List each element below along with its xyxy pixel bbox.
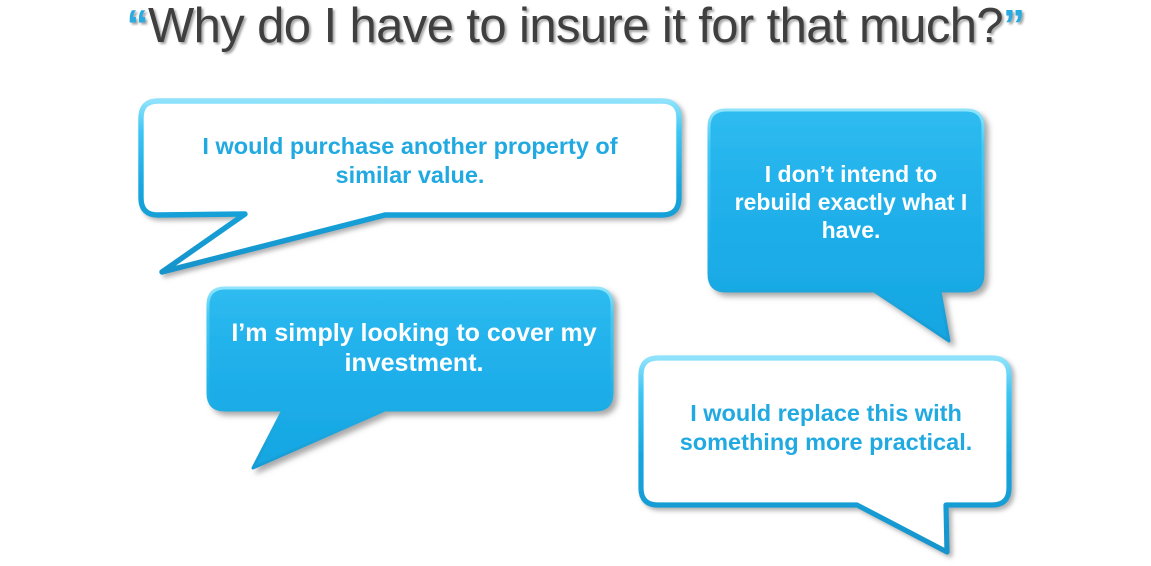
slide-canvas: “Why do I have to insure it for that muc… [0, 0, 1151, 563]
speech-bubble-1[interactable]: I would purchase another property of sim… [138, 94, 698, 289]
open-quote-mark: “ [127, 1, 148, 50]
speech-bubble-1-shape [138, 94, 698, 289]
speech-bubble-2-shape [706, 104, 1006, 364]
speech-bubble-3-shape [205, 282, 635, 482]
page-title: “Why do I have to insure it for that muc… [0, 0, 1151, 54]
speech-bubble-3[interactable]: I’m simply looking to cover my investmen… [205, 282, 635, 482]
speech-bubble-4[interactable]: I would replace this with something more… [638, 351, 1038, 566]
speech-bubble-2[interactable]: I don’t intend to rebuild exactly what I… [706, 104, 1006, 364]
close-quote-mark: ” [1003, 1, 1024, 50]
speech-bubble-4-shape [638, 351, 1038, 566]
page-title-text: Why do I have to insure it for that much… [148, 0, 1003, 53]
